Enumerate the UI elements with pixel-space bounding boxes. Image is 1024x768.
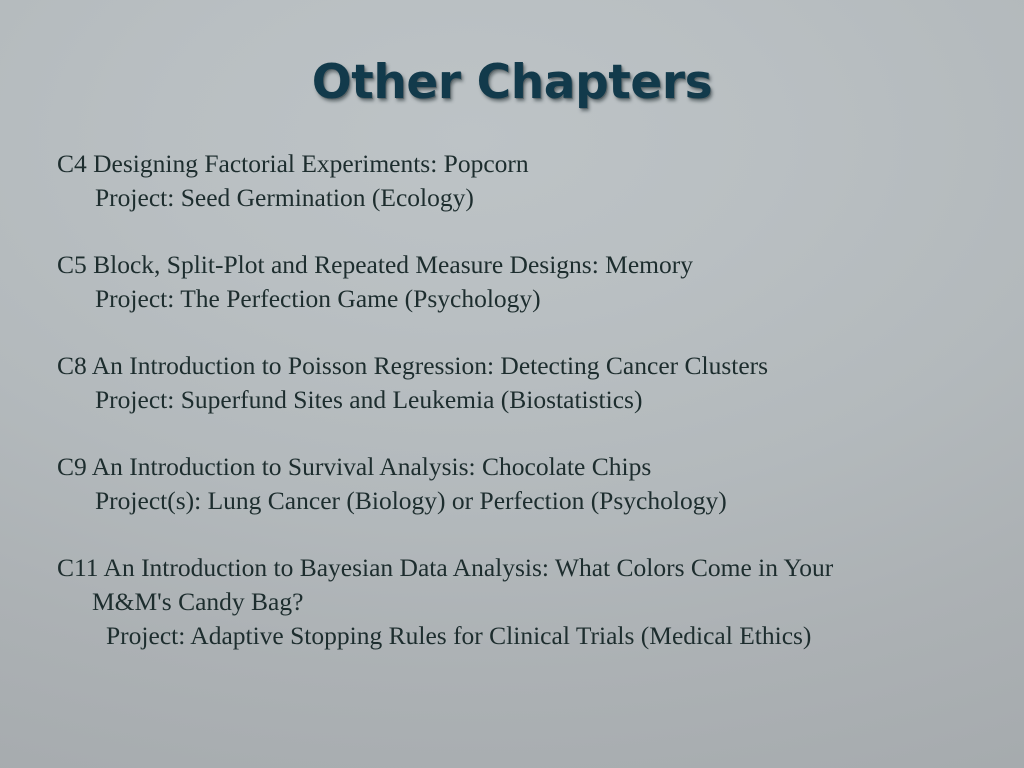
project-line-c9: Project(s): Lung Cancer (Biology) or Per…	[95, 484, 992, 518]
chapter-block-c5: C5 Block, Split-Plot and Repeated Measur…	[57, 248, 992, 316]
chapter-block-c11: C11 An Introduction to Bayesian Data Ana…	[57, 551, 992, 653]
project-line-c5: Project: The Perfection Game (Psychology…	[95, 282, 992, 316]
chapter-block-c8: C8 An Introduction to Poisson Regression…	[57, 349, 992, 417]
chapter-block-c4: C4 Designing Factorial Experiments: Popc…	[57, 147, 992, 215]
chapter-title-line-c5: C5 Block, Split-Plot and Repeated Measur…	[57, 248, 992, 282]
project-line-c4: Project: Seed Germination (Ecology)	[95, 181, 992, 215]
chapter-title-line-c4: C4 Designing Factorial Experiments: Popc…	[57, 147, 992, 181]
presentation-slide: Other Chapters C4 Designing Factorial Ex…	[0, 0, 1024, 768]
project-line-c8: Project: Superfund Sites and Leukemia (B…	[95, 383, 992, 417]
slide-title: Other Chapters	[0, 57, 1024, 110]
chapter-block-c9: C9 An Introduction to Survival Analysis:…	[57, 450, 992, 518]
chapter-title-continuation-c11: M&M's Candy Bag?	[92, 585, 992, 619]
chapter-title-line-c8: C8 An Introduction to Poisson Regression…	[57, 349, 992, 383]
chapter-title-line-c9: C9 An Introduction to Survival Analysis:…	[57, 450, 992, 484]
project-line-c11: Project: Adaptive Stopping Rules for Cli…	[106, 619, 992, 653]
chapter-list: C4 Designing Factorial Experiments: Popc…	[57, 147, 992, 653]
chapter-title-line-c11: C11 An Introduction to Bayesian Data Ana…	[57, 551, 992, 585]
